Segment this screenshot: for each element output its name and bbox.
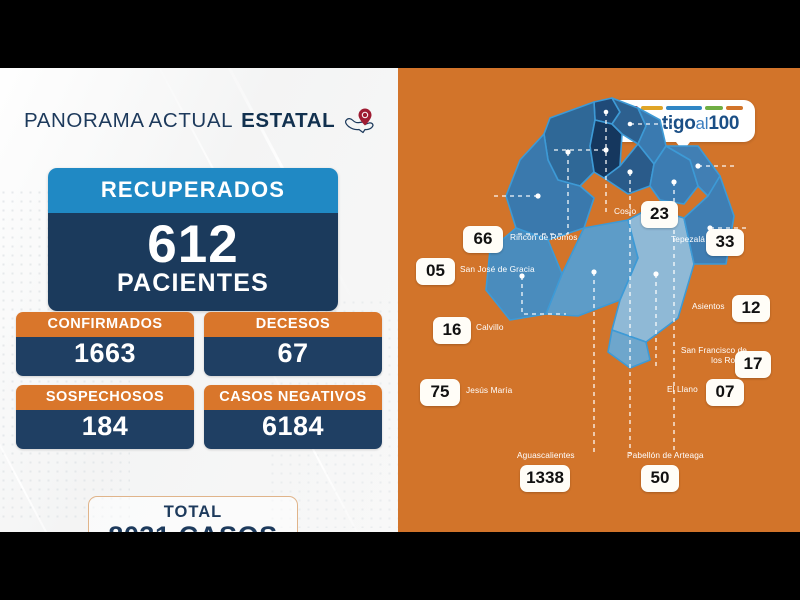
stat-card-confirmados: CONFIRMADOS 1663: [16, 312, 194, 376]
badge-san-francisco-de-los-romo[interactable]: 17: [735, 351, 771, 378]
badge-aguascalientes[interactable]: 1338: [520, 465, 570, 492]
label-san-jose-de-gracia: San José de Gracia: [460, 265, 535, 275]
recovered-unit: PACIENTES: [48, 269, 338, 298]
mexico-map-pin-icon: [343, 106, 375, 136]
label-pabellon-de-arteaga: Pabellón de Arteaga: [627, 451, 704, 461]
stat-card-decesos: DECESOS 67: [204, 312, 382, 376]
stat-label: SOSPECHOSOS: [16, 385, 194, 410]
stat-value: 67: [204, 337, 382, 376]
stat-value: 184: [16, 410, 194, 449]
badge-jesus-maria[interactable]: 75: [420, 379, 460, 406]
stat-card-sospechosos: SOSPECHOSOS 184: [16, 385, 194, 449]
stats-grid: CONFIRMADOS 1663 DECESOS 67 SOSPECHOSOS …: [16, 312, 382, 449]
badge-el-llano[interactable]: 07: [706, 379, 744, 406]
stat-label: CONFIRMADOS: [16, 312, 194, 337]
recovered-body: 612 PACIENTES: [48, 213, 338, 311]
badge-calvillo[interactable]: 16: [433, 317, 471, 344]
left-stats-panel: PANORAMA ACTUAL ESTATAL RECUPERADOS 612 …: [0, 68, 398, 532]
infographic-canvas: PANORAMA ACTUAL ESTATAL RECUPERADOS 612 …: [0, 0, 800, 600]
badge-asientos[interactable]: 12: [732, 295, 770, 322]
title-bold: ESTATAL: [241, 109, 335, 133]
label-el-llano: El Llano: [667, 385, 698, 395]
recovered-card: RECUPERADOS 612 PACIENTES: [48, 168, 338, 311]
recovered-label: RECUPERADOS: [48, 168, 338, 213]
recovered-value: 612: [48, 216, 338, 273]
label-aguascalientes: Aguascalientes: [517, 451, 575, 461]
label-tepezala: Tepezalá: [671, 235, 705, 245]
badge-rincon-de-romos[interactable]: 66: [463, 226, 503, 253]
label-jesus-maria: Jesús María: [466, 386, 512, 396]
label-rincon-de-romos: Rincón de Romos: [510, 233, 577, 243]
total-value: 8031 CASOS: [89, 521, 297, 532]
stat-card-casos-negativos: CASOS NEGATIVOS 6184: [204, 385, 382, 449]
badge-pabellon-de-arteaga[interactable]: 50: [641, 465, 679, 492]
stat-value: 6184: [204, 410, 382, 449]
badge-tepezala[interactable]: 33: [706, 229, 744, 256]
total-label: TOTAL: [89, 503, 297, 522]
stat-value: 1663: [16, 337, 194, 376]
label-asientos: Asientos: [692, 302, 725, 312]
badge-cosio[interactable]: 23: [641, 201, 678, 228]
total-card: TOTAL 8031 CASOS: [88, 496, 298, 532]
stat-label: CASOS NEGATIVOS: [204, 385, 382, 410]
badge-san-jose-de-gracia[interactable]: 05: [416, 258, 455, 285]
page-title: PANORAMA ACTUAL ESTATAL: [24, 106, 375, 136]
right-map-panel: Contigo al 100: [398, 68, 800, 532]
content-band: PANORAMA ACTUAL ESTATAL RECUPERADOS 612 …: [0, 68, 800, 532]
title-light: PANORAMA ACTUAL: [24, 109, 233, 133]
stat-label: DECESOS: [204, 312, 382, 337]
label-cosio: Cosío: [614, 207, 636, 217]
label-calvillo: Calvillo: [476, 323, 504, 333]
